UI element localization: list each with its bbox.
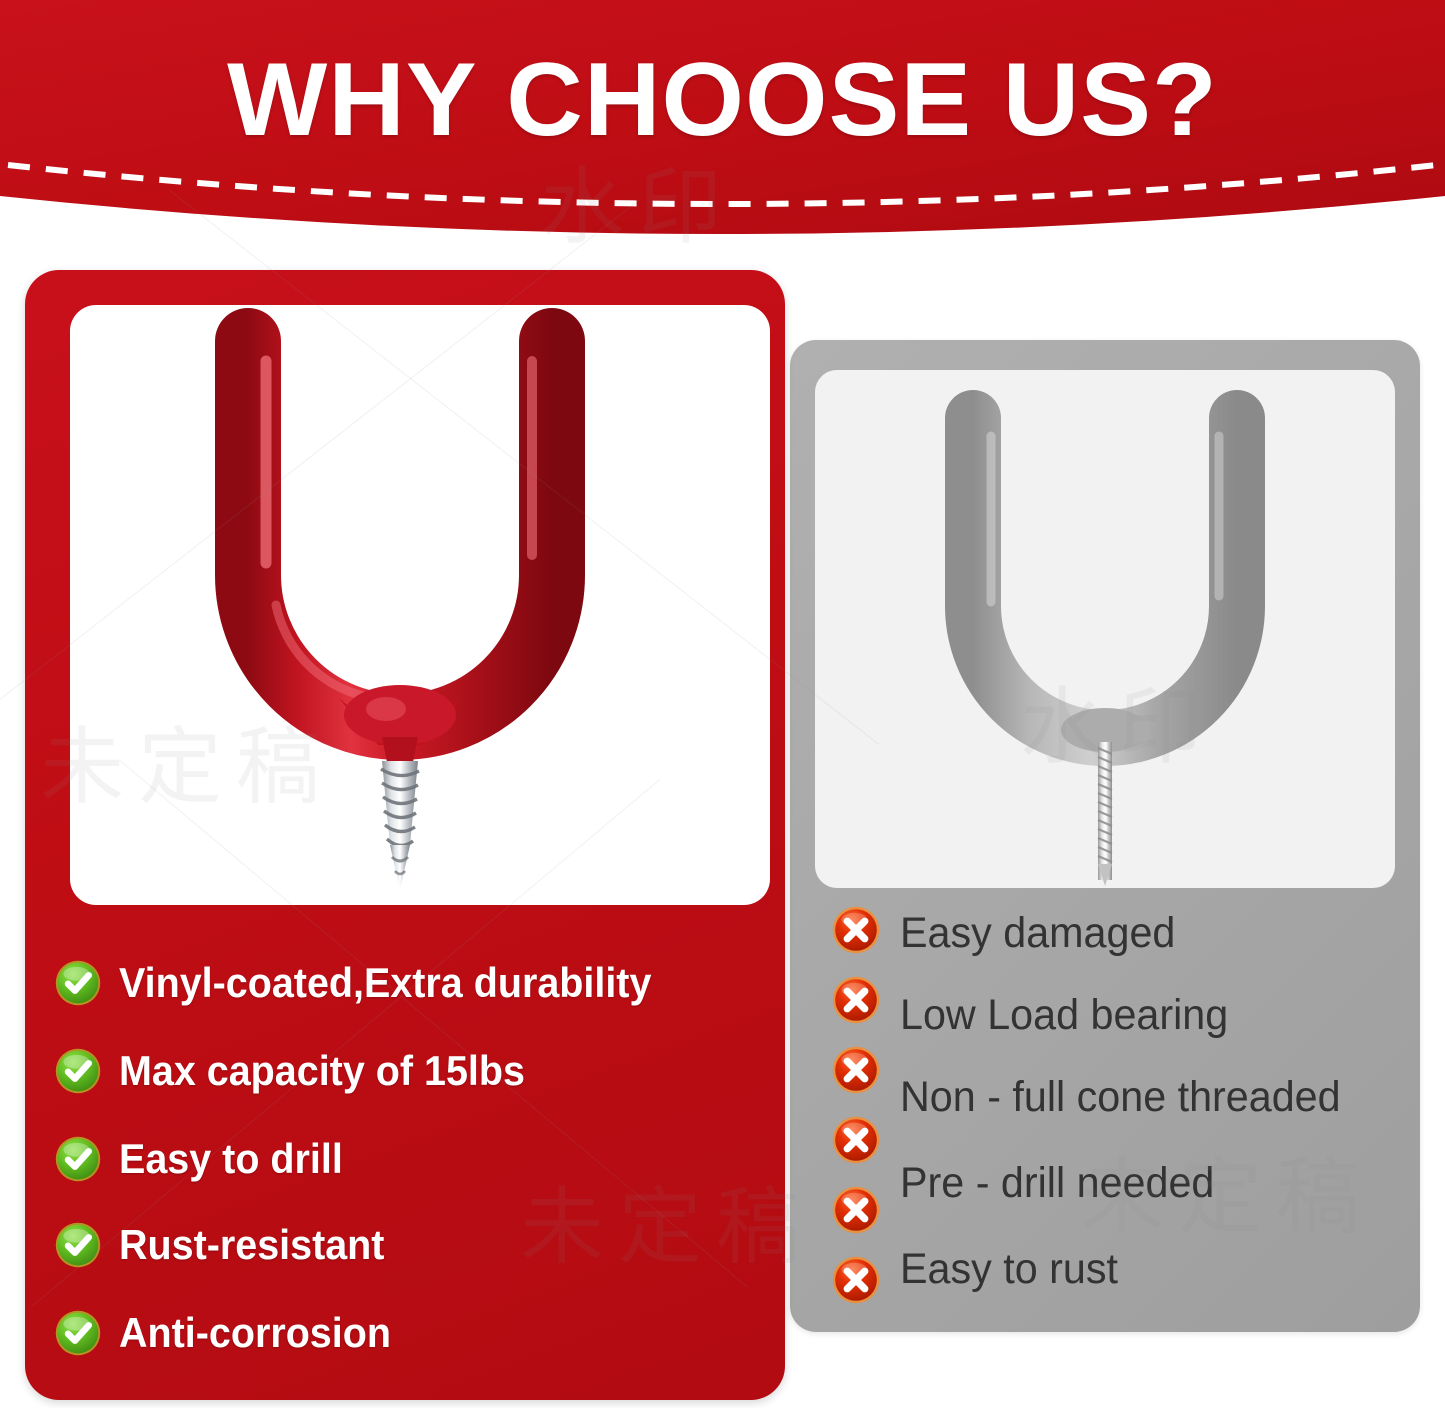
our-product-photo — [70, 305, 770, 905]
red-hook-shape — [248, 341, 552, 767]
drawback-label: Pre - drill needed — [900, 1162, 1214, 1205]
competitor-drawback-icons — [832, 898, 902, 1318]
check-icon — [55, 1222, 101, 1268]
infographic-page: WHY CHOOSE US? — [0, 0, 1445, 1408]
feature-label: Anti-corrosion — [119, 1312, 391, 1354]
feature-item: Anti-corrosion — [55, 1310, 408, 1356]
feature-item: Easy to drill — [55, 1136, 357, 1182]
red-screw-shape — [381, 761, 419, 890]
drawback-icon-slot — [832, 1186, 880, 1234]
drawback-label: Low Load bearing — [900, 994, 1228, 1037]
check-icon — [55, 1136, 101, 1182]
cross-icon — [832, 1046, 880, 1094]
check-icon — [55, 960, 101, 1006]
drawback-icon-slot — [832, 1256, 880, 1304]
cross-icon — [832, 1256, 880, 1304]
competitor-drawback-list: Easy damagedLow Load bearingNon - full c… — [900, 898, 1420, 1318]
cross-icon — [832, 1116, 880, 1164]
competitor-product-photo — [815, 370, 1395, 888]
feature-item: Max capacity of 15lbs — [55, 1048, 551, 1094]
feature-label: Rust-resistant — [119, 1224, 384, 1266]
cross-icon — [832, 1186, 880, 1234]
cross-icon — [832, 906, 880, 954]
feature-label: Easy to drill — [119, 1138, 343, 1180]
cross-icon — [832, 976, 880, 1024]
check-icon — [55, 1310, 101, 1356]
drawback-icon-slot — [832, 976, 880, 1024]
drawback-icon-slot — [832, 1116, 880, 1164]
check-icon — [55, 1048, 101, 1094]
drawback-icon-slot — [832, 1046, 880, 1094]
feature-label: Max capacity of 15lbs — [119, 1050, 525, 1092]
header-banner: WHY CHOOSE US? — [0, 0, 1445, 250]
feature-item: Vinyl-coated,Extra durability — [55, 960, 685, 1006]
drawback-label: Easy to rust — [900, 1248, 1118, 1291]
feature-item: Rust-resistant — [55, 1222, 401, 1268]
gray-screw-shape — [1098, 742, 1112, 886]
drawback-icon-slot — [832, 906, 880, 954]
drawback-label: Easy damaged — [900, 912, 1175, 955]
feature-label: Vinyl-coated,Extra durability — [119, 962, 651, 1004]
drawback-label: Non - full cone threaded — [900, 1076, 1341, 1119]
gray-hook-shape — [973, 418, 1237, 752]
page-title: WHY CHOOSE US? — [0, 44, 1445, 156]
